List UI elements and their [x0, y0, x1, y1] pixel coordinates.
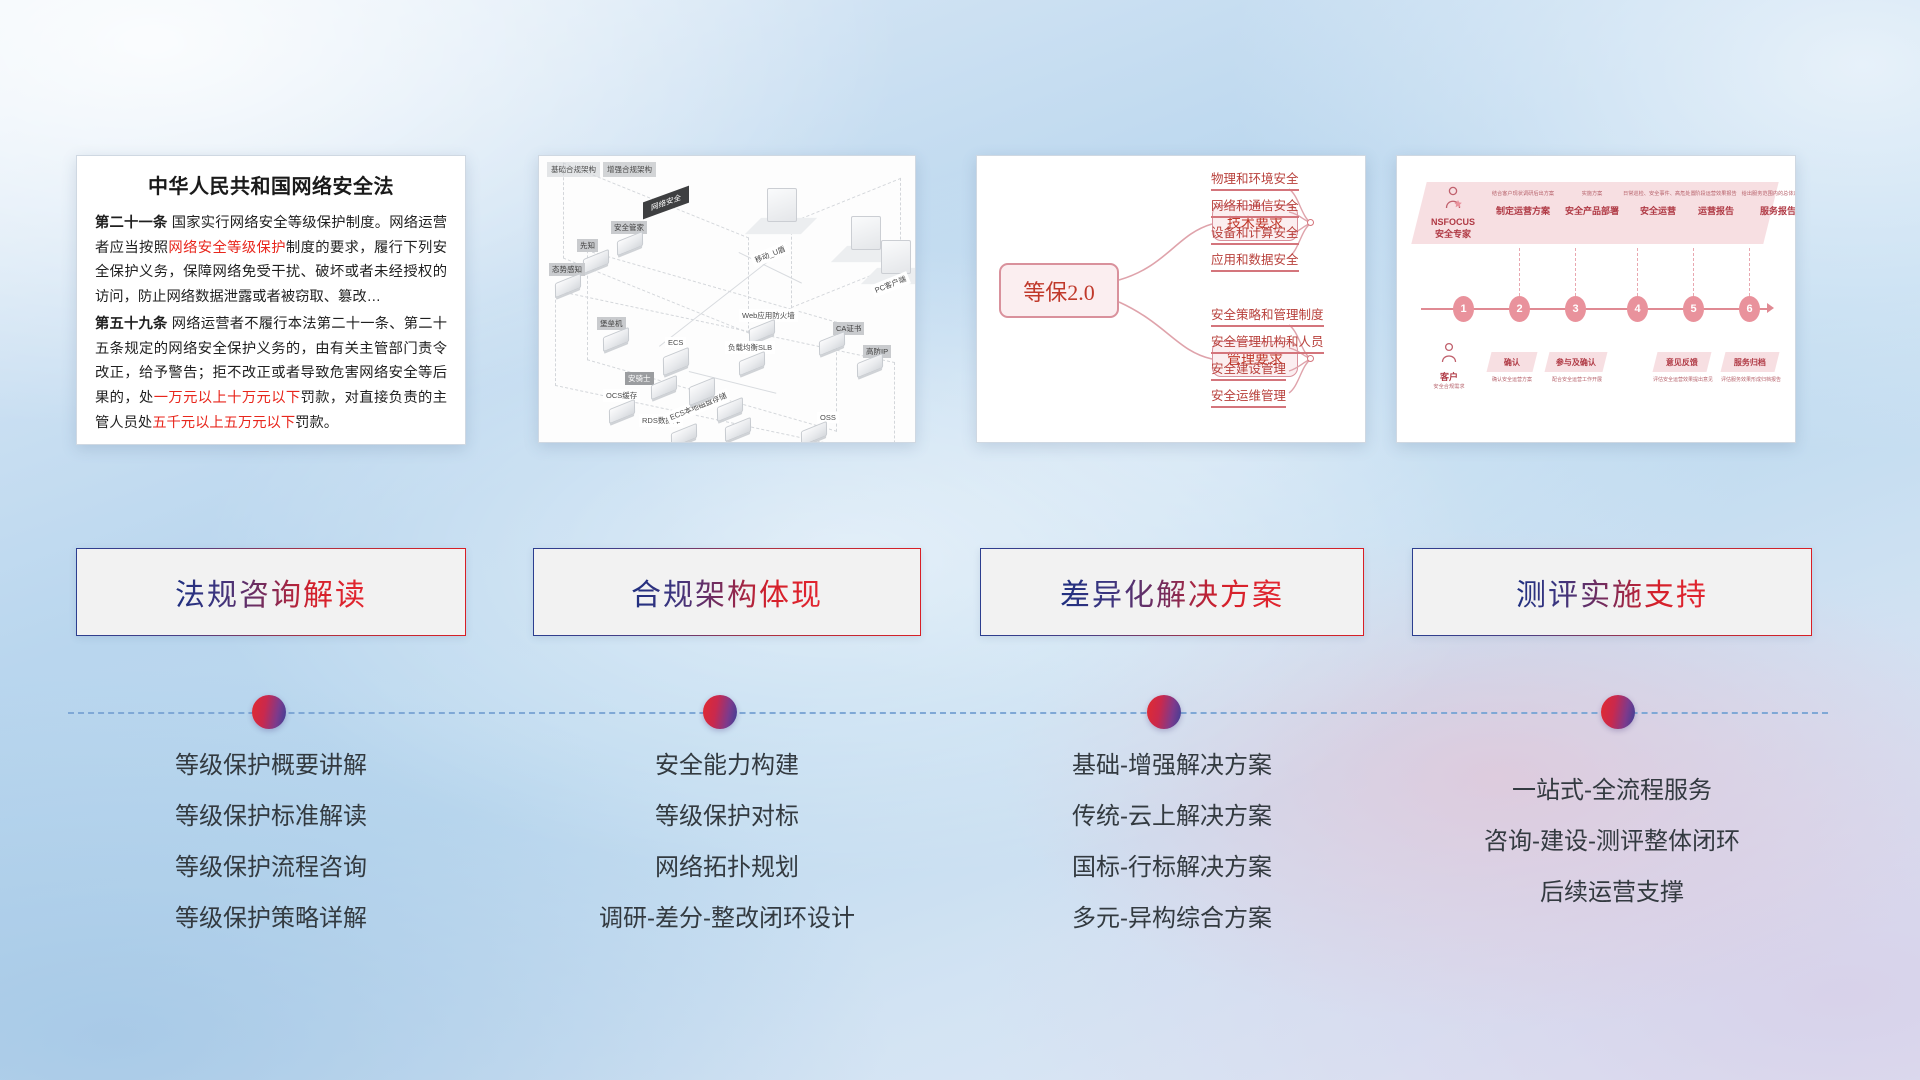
list-item: 等级保护概要讲解	[76, 740, 466, 791]
timeline-dot-1[interactable]	[252, 695, 286, 729]
roadmap-customer-need: 安全合规需求	[1423, 385, 1475, 390]
roadmap-customer-label: 客户	[1423, 370, 1475, 383]
architecture-diagram: 基础合规架构 增强合规架构 网络安全	[539, 156, 915, 442]
roadmap-dash-2	[1519, 248, 1520, 296]
roadmap-step-5-title: 运营报告	[1683, 204, 1749, 217]
node-chip-oss	[801, 421, 827, 443]
mindmap-leaf-tech-4: 应用和数据安全	[1211, 249, 1299, 272]
roadmap-step-6-sub: 给出服务范围内的总体运营效果	[1741, 192, 1796, 197]
roadmap-dash-3	[1575, 248, 1576, 296]
timeline-dot-2[interactable]	[703, 695, 737, 729]
list-item: 等级保护流程咨询	[76, 842, 466, 893]
list-item: 多元-异构综合方案	[980, 893, 1364, 944]
node-bastion-host: 堡垒机	[597, 328, 629, 347]
mindmap-leaf-mgmt-3: 安全建设管理	[1211, 358, 1286, 381]
list-compliance-architecture: 安全能力构建 等级保护对标 网络拓扑规划 调研-差分-整改闭环设计	[533, 740, 921, 944]
mindmap-leaf-tech-3: 设备和计算安全	[1211, 222, 1299, 245]
roadmap-step-5: 阶段运营效果报告 运营报告	[1683, 192, 1749, 217]
tab-enhanced-architecture[interactable]: 增强合规架构	[603, 162, 656, 177]
roadmap-tag-confirm[interactable]: 确认	[1487, 352, 1538, 372]
list-item: 等级保护标准解读	[76, 791, 466, 842]
law-article-59: 第五十九条 网络运营者不履行本法第二十一条、第二十五条规定的网络安全保护义务的，…	[95, 312, 447, 435]
roadmap-tag-feedback-label: 意见反馈	[1666, 357, 1698, 368]
section-headers: 法规咨询解读 合规架构体现 差异化解决方案 测评实施支持	[0, 548, 1920, 636]
roadmap-number-6[interactable]: 6	[1739, 296, 1760, 322]
law-title: 中华人民共和国网络安全法	[95, 170, 447, 199]
node-ecs: ECS	[663, 348, 689, 371]
law-document: 中华人民共和国网络安全法 第二十一条 国家实行网络安全等级保护制度。网络运营者应…	[77, 156, 465, 445]
node-chip-extra-3	[725, 422, 751, 437]
node-waf: Web应用防火墙	[739, 320, 775, 339]
roadmap-tag-archive[interactable]: 服务归档	[1721, 352, 1780, 372]
roadmap-step-2-title: 制定运营方案	[1489, 204, 1557, 217]
mindmap-leaf-mgmt-4: 安全运维管理	[1211, 385, 1286, 408]
card-cybersecurity-law[interactable]: 中华人民共和国网络安全法 第二十一条 国家实行网络安全等级保护制度。网络运营者应…	[76, 155, 466, 445]
node-ocs-cache: OCS缓存	[603, 400, 635, 419]
mindmap-leaf-mgmt-1: 安全策略和管理制度	[1211, 304, 1324, 327]
roadmap-tag-participate-label: 参与及确认	[1556, 357, 1596, 368]
roadmap-number-1[interactable]: 1	[1453, 296, 1474, 322]
roadmap-step-6-title: 服务报告	[1741, 204, 1796, 217]
node-label-mobile-ukey: 移动_U盾	[750, 241, 790, 267]
roadmap-step-3-sub: 实施方案	[1559, 192, 1625, 197]
mindmap: 等保2.0 技术要求 管理要求 物理和环境安全	[977, 156, 1365, 442]
roadmap-number-3[interactable]: 3	[1565, 296, 1586, 322]
roadmap-dash-5	[1693, 248, 1694, 296]
list-item: 等级保护对标	[533, 791, 921, 842]
server-box-pc	[881, 240, 911, 274]
node-rds-database: RDS数据库	[639, 424, 697, 443]
card-evaluation-roadmap[interactable]: NSFOCUS 安全专家 结合客户现状调研后出方案 制定运营方案 实施方案 安全…	[1396, 155, 1796, 443]
section-header-label-4: 测评实施支持	[1516, 570, 1708, 614]
mindmap-root-node[interactable]: 等保2.0	[999, 263, 1119, 318]
section-header-evaluation-support[interactable]: 测评实施支持	[1412, 548, 1812, 636]
section-header-label-1: 法规咨询解读	[175, 570, 367, 614]
node-chip-extra-1	[689, 382, 715, 401]
article-59-label: 第五十九条	[95, 316, 168, 332]
section-header-label-3: 差异化解决方案	[1060, 570, 1284, 614]
timeline-dot-4[interactable]	[1601, 695, 1635, 729]
roadmap-cap-participate: 配合安全运营工作开展	[1541, 376, 1613, 383]
server-box-mobile2	[851, 216, 881, 250]
mindmap-leaf-tech-1: 物理和环境安全	[1211, 168, 1299, 191]
node-oss: OSS	[801, 422, 827, 441]
roadmap-customer: 客户 安全合规需求	[1423, 342, 1475, 390]
list-item: 安全能力构建	[533, 740, 921, 791]
article-59-highlight-1: 一万元以上十万元以下	[154, 390, 301, 406]
roadmap-tag-archive-label: 服务归档	[1734, 357, 1766, 368]
list-item: 国标-行标解决方案	[980, 842, 1364, 893]
node-chip-extra-2	[717, 402, 743, 417]
section-header-label-2: 合规架构体现	[631, 570, 823, 614]
timeline-dot-3[interactable]	[1147, 695, 1181, 729]
node-label-slb: 负载均衡SLB	[725, 341, 775, 354]
roadmap-cap-feedback: 评估安全运营效果提出意见	[1645, 376, 1721, 383]
list-item: 咨询-建设-测评整体闭环	[1412, 816, 1812, 867]
section-lists: 等级保护概要讲解 等级保护标准解读 等级保护流程咨询 等级保护策略详解 安全能力…	[0, 740, 1920, 960]
node-label-ecs: ECS	[665, 337, 686, 348]
list-item: 网络拓扑规划	[533, 842, 921, 893]
list-evaluation-support: 一站式-全流程服务 咨询-建设-测评整体闭环 后续运营支撑	[1412, 765, 1812, 918]
roadmap-diagram: NSFOCUS 安全专家 结合客户现状调研后出方案 制定运营方案 实施方案 安全…	[1397, 156, 1795, 442]
roadmap-dash-6	[1749, 248, 1750, 296]
card-dengbao-mindmap[interactable]: 等保2.0 技术要求 管理要求 物理和环境安全	[976, 155, 1366, 443]
timeline-dashed-line	[68, 712, 1828, 714]
section-header-compliance-architecture[interactable]: 合规架构体现	[533, 548, 921, 636]
roadmap-arrow-icon	[1767, 303, 1774, 313]
mindmap-dot-management	[1307, 355, 1314, 362]
section-header-regulation-consulting[interactable]: 法规咨询解读	[76, 548, 466, 636]
article-21-label: 第二十一条	[95, 215, 168, 231]
mindmap-dot-technical	[1307, 219, 1314, 226]
roadmap-step-3-title: 安全产品部署	[1559, 204, 1625, 217]
node-label-anqishi: 安骑士	[625, 372, 654, 385]
roadmap-step-6: 给出服务范围内的总体运营效果 服务报告	[1741, 192, 1796, 217]
node-label-bastion-host: 堡垒机	[597, 317, 626, 330]
node-label-xianzhi: 先知	[577, 239, 598, 252]
node-anti-ddos-ip: 高防IP	[857, 354, 883, 373]
list-item: 调研-差分-整改闭环设计	[533, 893, 921, 944]
node-chip-ocs-cache	[609, 399, 635, 424]
roadmap-tag-feedback[interactable]: 意见反馈	[1653, 352, 1712, 372]
mindmap-leaf-tech-2: 网络和通信安全	[1211, 195, 1299, 218]
article-59-highlight-2: 五千元以上五万元以下	[152, 415, 295, 431]
roadmap-cap-archive: 评估服务效果形成归档报告	[1713, 376, 1789, 383]
timeline	[0, 695, 1920, 731]
list-item: 一站式-全流程服务	[1412, 765, 1812, 816]
roadmap-step-5-sub: 阶段运营效果报告	[1683, 192, 1749, 197]
roadmap-number-4[interactable]: 4	[1627, 296, 1648, 322]
roadmap-number-2[interactable]: 2	[1509, 296, 1530, 322]
node-label-oss: OSS	[817, 412, 839, 423]
list-differentiated-solutions: 基础-增强解决方案 传统-云上解决方案 国标-行标解决方案 多元-异构综合方案	[980, 740, 1364, 944]
roadmap-band-content: 结合客户现状调研后出方案 制定运营方案 实施方案 安全产品部署 日常巡检、安全事…	[1419, 182, 1771, 244]
roadmap-number-5[interactable]: 5	[1683, 296, 1704, 322]
roadmap-step-3: 实施方案 安全产品部署	[1559, 192, 1625, 217]
roadmap-step-2-sub: 结合客户现状调研后出方案	[1489, 192, 1557, 197]
cards-row: 中华人民共和国网络安全法 第二十一条 国家实行网络安全等级保护制度。网络运营者应…	[0, 155, 1920, 445]
node-security-butler: 安全管家	[611, 232, 643, 251]
roadmap-step-2: 结合客户现状调研后出方案 制定运营方案	[1489, 192, 1557, 217]
law-article-21: 第二十一条 国家实行网络安全等级保护制度。网络运营者应当按照网络安全等级保护制度…	[95, 211, 447, 309]
roadmap-dash-4	[1637, 248, 1638, 296]
roadmap-cap-confirm: 确认安全运营方案	[1479, 376, 1545, 383]
list-item: 等级保护策略详解	[76, 893, 466, 944]
node-ca-cert: CA证书	[819, 332, 845, 351]
roadmap-tag-participate[interactable]: 参与及确认	[1545, 352, 1608, 372]
list-item: 传统-云上解决方案	[980, 791, 1364, 842]
card-compliance-architecture[interactable]: 基础合规架构 增强合规架构 网络安全	[538, 155, 916, 443]
list-regulation-consulting: 等级保护概要讲解 等级保护标准解读 等级保护流程咨询 等级保护策略详解	[76, 740, 466, 944]
customer-icon	[1438, 342, 1460, 364]
section-header-differentiated-solutions[interactable]: 差异化解决方案	[980, 548, 1364, 636]
node-situation-awareness: 态势感知	[549, 274, 581, 293]
roadmap-tag-confirm-label: 确认	[1504, 357, 1520, 368]
list-item: 基础-增强解决方案	[980, 740, 1364, 791]
list-item: 后续运营支撑	[1412, 867, 1812, 918]
article-59-text-3: 罚款。	[295, 415, 338, 431]
node-slb: 负载均衡SLB	[725, 352, 765, 371]
mindmap-leaf-mgmt-2: 安全管理机构和人员	[1211, 331, 1324, 354]
article-21-highlight: 网络安全等级保护	[168, 240, 285, 256]
server-box-mobile	[767, 188, 797, 222]
